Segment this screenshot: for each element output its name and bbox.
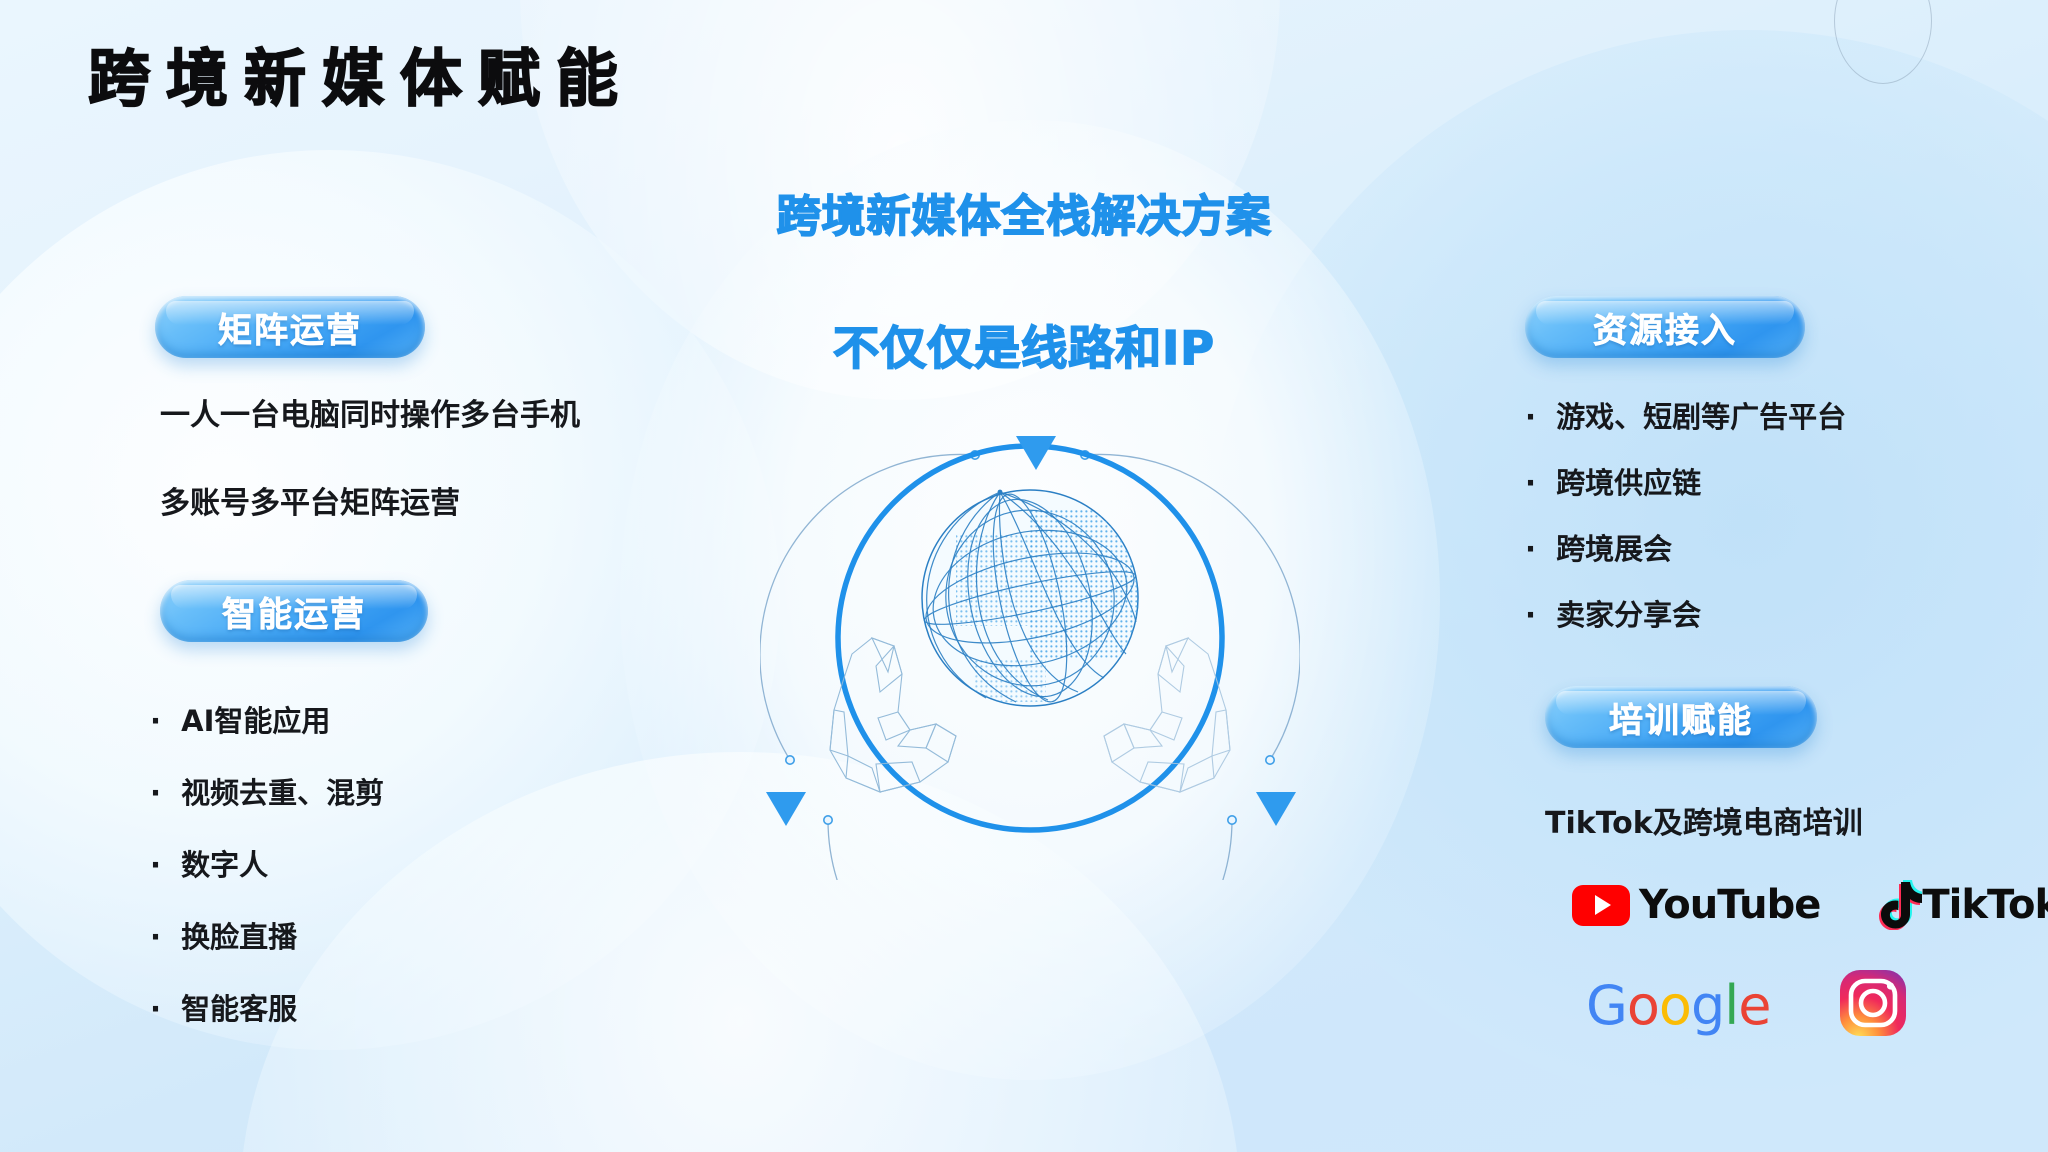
right-bullet-resource-2: · 跨境供应链	[1525, 460, 1701, 502]
center-heading-primary: 跨境新媒体全栈解决方案	[0, 180, 2048, 244]
youtube-label: YouTube	[1639, 882, 1820, 928]
google-letter-g1: G	[1586, 974, 1627, 1037]
google-logo[interactable]: Google	[1586, 974, 1770, 1037]
badge-matrix-operations[interactable]: 矩阵运营	[155, 296, 425, 358]
left-bullet-smart-5: · 智能客服	[150, 986, 297, 1028]
bullet-dot: ·	[150, 776, 161, 810]
bullet-dot: ·	[150, 704, 161, 738]
left-bullet-smart-4: · 换脸直播	[150, 914, 297, 956]
bullet-dot: ·	[150, 920, 161, 954]
right-bullet-resource-4: · 卖家分享会	[1525, 592, 1701, 634]
left-bullet-smart-3: · 数字人	[150, 842, 268, 884]
instagram-logo[interactable]	[1838, 968, 1908, 1043]
globe-svg	[760, 400, 1300, 880]
bullet-dot: ·	[1525, 466, 1536, 500]
tiktok-logo[interactable]: TikTok	[1876, 880, 2048, 930]
google-letter-o2: o	[1659, 974, 1691, 1037]
bullet-label: 跨境展会	[1556, 532, 1672, 566]
bullet-label: 跨境供应链	[1556, 466, 1701, 500]
left-text-matrix-1: 一人一台电脑同时操作多台手机	[160, 390, 580, 434]
slide-canvas: 跨境新媒体赋能 跨境新媒体全栈解决方案 不仅仅是线路和IP 矩阵运营 一人一台电…	[0, 0, 2048, 1152]
bullet-label: 卖家分享会	[1556, 598, 1701, 632]
tiktok-label: TikTok	[1922, 882, 2048, 928]
google-letter-l: l	[1724, 974, 1738, 1037]
right-bullet-resource-1: · 游戏、短剧等广告平台	[1525, 394, 1846, 436]
left-bullet-smart-1: · AI智能应用	[150, 698, 330, 740]
badge-training-empowerment[interactable]: 培训赋能	[1545, 686, 1817, 748]
bullet-label: 视频去重、混剪	[181, 776, 384, 810]
google-letter-g2: g	[1691, 974, 1724, 1037]
bullet-dot: ·	[1525, 598, 1536, 632]
badge-smart-operations[interactable]: 智能运营	[160, 580, 428, 642]
youtube-logo[interactable]: YouTube	[1572, 882, 1820, 928]
logo-row-primary: YouTube TikTok	[1572, 880, 2048, 930]
tiktok-note-icon	[1876, 880, 1922, 930]
bullet-dot: ·	[150, 848, 161, 882]
bullet-label: 换脸直播	[181, 920, 297, 954]
bullet-label: 游戏、短剧等广告平台	[1556, 400, 1846, 434]
badge-resource-access[interactable]: 资源接入	[1525, 296, 1805, 358]
logo-row-secondary: Google	[1586, 968, 1908, 1043]
bullet-label: 智能客服	[181, 992, 297, 1026]
globe-in-hands-illustration	[760, 400, 1300, 880]
right-text-training: TikTok及跨境电商培训	[1545, 798, 1863, 842]
youtube-play-icon	[1572, 885, 1630, 926]
wireframe-globe	[918, 488, 1142, 709]
google-letter-o1: o	[1627, 974, 1659, 1037]
google-letter-e: e	[1738, 974, 1770, 1037]
bullet-dot: ·	[150, 992, 161, 1026]
decorative-circle-outline	[1834, 0, 1932, 84]
left-text-matrix-2: 多账号多平台矩阵运营	[160, 478, 460, 522]
bullet-dot: ·	[1525, 532, 1536, 566]
bullet-label: AI智能应用	[181, 704, 330, 738]
instagram-camera-icon	[1838, 968, 1908, 1038]
right-bullet-resource-3: · 跨境展会	[1525, 526, 1672, 568]
bullet-dot: ·	[1525, 400, 1536, 434]
bullet-label: 数字人	[181, 848, 268, 882]
left-bullet-smart-2: · 视频去重、混剪	[150, 770, 384, 812]
page-title: 跨境新媒体赋能	[88, 48, 634, 110]
